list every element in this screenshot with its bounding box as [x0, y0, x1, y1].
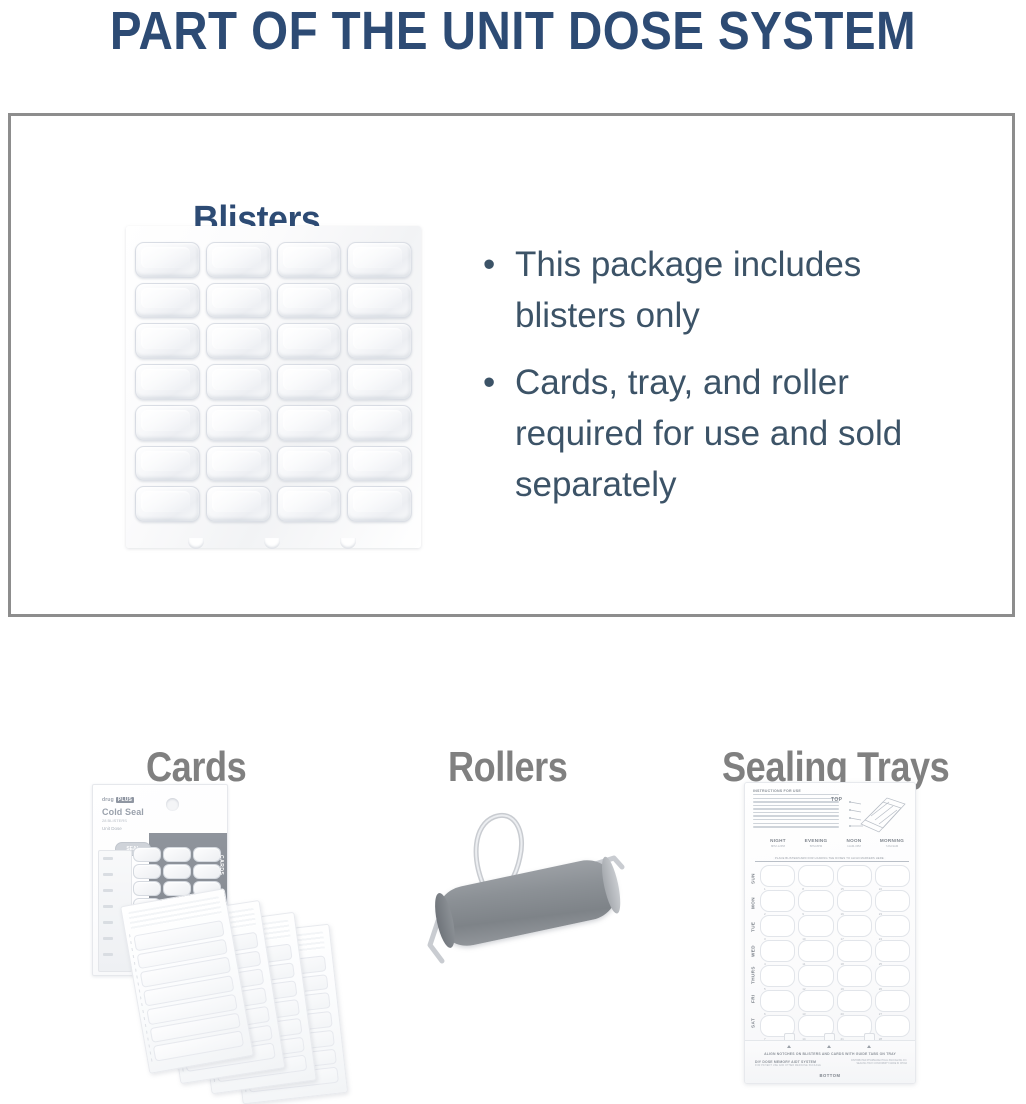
tray-footer: ALIGN NOTCHES ON BLISTERS AND CARDS WITH…	[745, 1040, 915, 1083]
tray-day-label: SUN	[747, 867, 759, 891]
tray-instructions-lines	[753, 794, 839, 830]
product-heading-rollers: Rollers	[448, 745, 567, 789]
blister-cell	[347, 405, 412, 441]
bullet-marker-icon: •	[483, 357, 515, 510]
tray-column-label: EVENING	[797, 838, 835, 843]
tray-notch	[188, 538, 204, 549]
tray-dose-cell: 3	[760, 915, 795, 937]
tray-column-headers: NIGHT8PM-12PMEVENING5PM-8PMNOON11AM-3PMM…	[759, 838, 911, 852]
blister-cell	[135, 323, 200, 359]
roller-photo	[408, 795, 640, 1010]
tray-dose-cell: 25	[875, 940, 910, 962]
tray-dose-cell: 27	[875, 990, 910, 1012]
package-strip-tick	[103, 889, 113, 892]
package-strip-tick	[103, 857, 113, 860]
package-title: Cold Seal	[102, 807, 144, 817]
tray-day-label: WED	[747, 939, 759, 963]
package-strip-tick	[103, 921, 113, 924]
tray-column-label: NIGHT	[759, 838, 797, 843]
tray-column-label: MORNING	[873, 838, 911, 843]
package-blister-cell	[133, 881, 161, 896]
blister-cell	[135, 283, 200, 319]
tray-dose-cell-grid: 1815222916233101724411182551219266132027…	[760, 865, 910, 1037]
tray-usage-diagram-icon	[847, 790, 909, 834]
tray-dose-cell: 13	[798, 990, 833, 1012]
tray-dose-cell: 24	[875, 915, 910, 937]
list-item: • This package includes blisters only	[483, 239, 953, 341]
tray-footer-left-sub: FOR PATIENT USE AND OTHER MEDICINE PACKA…	[755, 1065, 821, 1067]
blister-cell	[277, 364, 342, 400]
tray-column-sublabel: 7AM-9AM	[873, 844, 911, 848]
package-strip-tick	[103, 953, 113, 956]
package-strip-tick	[103, 905, 113, 908]
blister-cell	[206, 364, 271, 400]
package-logo-b: PLUS	[116, 797, 134, 803]
blister-cell	[206, 405, 271, 441]
blisters-bullet-list: • This package includes blisters only • …	[483, 239, 953, 526]
tray-footer-note: ALIGN NOTCHES ON BLISTERS AND CARDS WITH…	[745, 1052, 915, 1056]
page-title: PART OF THE UNIT DOSE SYSTEM	[62, 2, 965, 60]
tray-dose-cell: 17	[837, 915, 872, 937]
blister-cell	[135, 405, 200, 441]
bullet-marker-icon: •	[483, 239, 515, 341]
blister-cell	[135, 242, 200, 278]
blister-cell	[347, 283, 412, 319]
tray-day-label: THURS	[747, 963, 759, 987]
blister-cell	[135, 486, 200, 522]
blister-cell	[135, 364, 200, 400]
tray-dose-cell: 19	[837, 965, 872, 987]
tray-column-header: MORNING7AM-9AM	[873, 838, 911, 852]
tray-dose-cell: 15	[837, 865, 872, 887]
tray-bottom-label: BOTTOM	[745, 1073, 915, 1078]
tray-column-sublabel: 8PM-12PM	[759, 844, 797, 848]
blister-cell	[206, 486, 271, 522]
tray-footer-right: DISTRIBUTED PHARMACEUTICAL PACKAGING CO.…	[851, 1060, 907, 1067]
package-blister-cell	[133, 847, 161, 862]
package-vertical-tab: CARDS	[218, 855, 224, 875]
package-logo-a: drug	[102, 797, 114, 803]
tray-notch	[264, 538, 280, 549]
tray-blister-grid	[135, 242, 412, 522]
tray-column-sublabel: 5PM-8PM	[797, 844, 835, 848]
tray-day-label: MON	[747, 891, 759, 915]
package-blister-cell	[193, 864, 221, 879]
tray-dose-cell: 26	[875, 965, 910, 987]
tray-dose-cell: 9	[798, 890, 833, 912]
tray-arrow-icon	[827, 1045, 831, 1048]
tray-day-label: FRI	[747, 987, 759, 1011]
blister-cell	[206, 446, 271, 482]
tray-dose-cell: 11	[798, 940, 833, 962]
blister-cell	[135, 446, 200, 482]
bullet-text: This package includes blisters only	[515, 239, 953, 341]
sealing-tray-photo: INSTRUCTIONS FOR USE TOP NIGHT8PM-12PMEV…	[744, 782, 916, 1084]
tray-footer-left-title: DIY DOSE MEMORY AIDT SYSTEM	[755, 1060, 816, 1064]
tray-align-note: PLACE BLISTER/CARD FOR LOADING THE DOSES…	[773, 857, 886, 860]
tray-day-label: SAT	[747, 1011, 759, 1035]
tray-arrow-icon	[867, 1045, 871, 1048]
package-blister-cell	[163, 864, 191, 879]
tray-dose-cell: 20	[837, 990, 872, 1012]
blisters-panel: Blisters • This package includes blister…	[8, 113, 1015, 617]
tray-column-header: NOON11AM-3PM	[835, 838, 873, 852]
tray-column-header: EVENING5PM-8PM	[797, 838, 835, 852]
tray-top-label: TOP	[831, 797, 842, 803]
tray-arrow-icon	[787, 1045, 791, 1048]
package-strip-tick	[103, 873, 113, 876]
blister-tray-photo	[126, 226, 421, 548]
package-logo: drug PLUS	[102, 797, 134, 803]
blister-cell	[277, 486, 342, 522]
cards-photo: drug PLUS Cold Seal 28 BLISTERS Unit Dos…	[78, 778, 356, 1084]
tray-footer-left: DIY DOSE MEMORY AIDT SYSTEM FOR PATIENT …	[755, 1060, 821, 1067]
package-blister-cell	[133, 864, 161, 879]
tray-notches	[126, 533, 421, 549]
tray-dose-cell: 22	[875, 865, 910, 887]
blister-cell	[206, 242, 271, 278]
blister-cell	[206, 323, 271, 359]
list-item: • Cards, tray, and roller required for u…	[483, 357, 953, 510]
tray-dose-cell: 2	[760, 890, 795, 912]
loose-card-slots	[133, 920, 244, 1062]
tray-notch	[340, 538, 356, 549]
blister-cell	[347, 364, 412, 400]
blister-cell	[277, 405, 342, 441]
tray-dose-cell: 12	[798, 965, 833, 987]
tray-dose-cell: 1	[760, 865, 795, 887]
tray-dose-cell: 6	[760, 990, 795, 1012]
blister-cell	[347, 486, 412, 522]
tray-dose-cell: 16	[837, 890, 872, 912]
tray-dose-cell: 5	[760, 965, 795, 987]
package-subtitle-1: 28 BLISTERS	[102, 818, 127, 823]
package-blister-cell	[163, 847, 191, 862]
blister-cell	[347, 242, 412, 278]
blister-cell	[347, 446, 412, 482]
loose-cards-stack	[134, 896, 356, 1084]
blister-cell	[277, 242, 342, 278]
blister-cell	[206, 283, 271, 319]
tray-day-label: TUE	[747, 915, 759, 939]
tray-dose-cell: 8	[798, 865, 833, 887]
tray-dose-cell: 10	[798, 915, 833, 937]
blister-cell	[277, 446, 342, 482]
tray-column-label: NOON	[835, 838, 873, 843]
blister-cell	[277, 323, 342, 359]
package-strip-tick	[103, 937, 113, 940]
tray-column-sublabel: 11AM-3PM	[835, 844, 873, 848]
blister-cell	[347, 323, 412, 359]
blister-cell	[277, 283, 342, 319]
bullet-text: Cards, tray, and roller required for use…	[515, 357, 953, 510]
package-blister-cell	[193, 847, 221, 862]
tray-day-labels: SUNMONTUEWEDTHURSFRISAT	[747, 867, 759, 1035]
package-hang-hole	[166, 798, 179, 811]
package-subtitle-2: Unit Dose	[102, 826, 122, 831]
tray-dose-cell: 18	[837, 940, 872, 962]
tray-dose-cell: 23	[875, 890, 910, 912]
tray-align-rule	[755, 861, 909, 862]
tray-footer-right-2: SEALING TRAY CONFORMITY MADE IN CHINA	[851, 1063, 907, 1066]
tray-instructions-title: INSTRUCTIONS FOR USE	[753, 789, 801, 793]
tray-dose-cell: 4	[760, 940, 795, 962]
tray-column-header: NIGHT8PM-12PM	[759, 838, 797, 852]
